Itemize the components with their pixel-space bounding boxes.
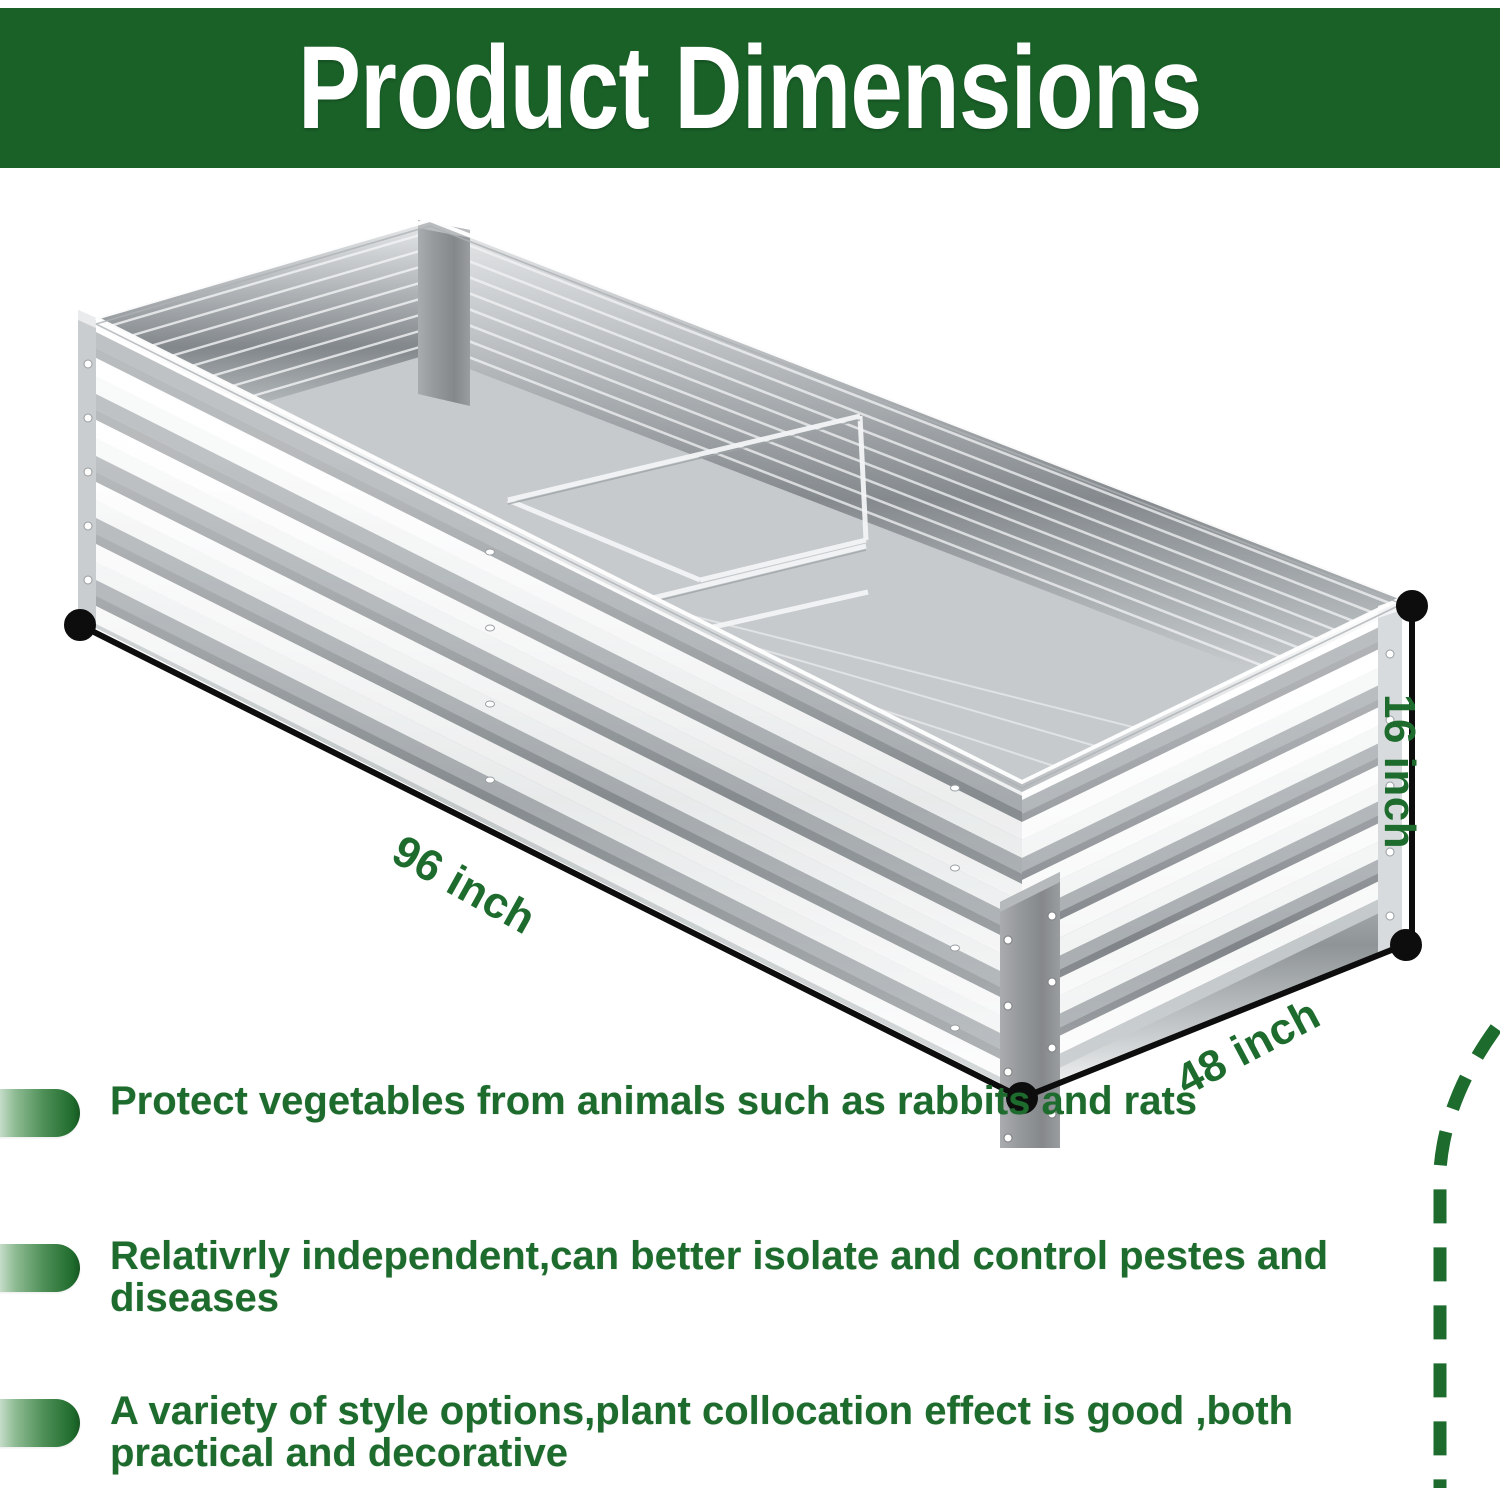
bullet-pill-icon [0, 1399, 80, 1447]
dimension-label-height: 16 inch [1374, 694, 1424, 849]
dimension-endpoint-dot [67, 612, 93, 638]
left-end-panel [78, 310, 96, 628]
interior-corner-post [418, 220, 470, 406]
page-title: Product Dimensions [298, 29, 1202, 147]
bullet-pill-icon [0, 1089, 80, 1137]
dimension-endpoint-dot [1393, 932, 1419, 958]
header-banner: Product Dimensions [0, 8, 1500, 168]
feature-item: Protect vegetables from animals such as … [0, 1080, 1460, 1137]
feature-item: A variety of style options,plant colloca… [0, 1390, 1460, 1475]
dimension-endpoint-dot [1399, 593, 1425, 619]
bullet-pill-icon [0, 1244, 80, 1292]
feature-text: Relativrly independent,can better isolat… [110, 1235, 1450, 1320]
product-illustration [0, 168, 1500, 1148]
raised-garden-bed-drawing [0, 168, 1500, 1148]
feature-text: Protect vegetables from animals such as … [110, 1080, 1197, 1122]
feature-item: Relativrly independent,can better isolat… [0, 1235, 1460, 1320]
feature-text: A variety of style options,plant colloca… [110, 1390, 1450, 1475]
feature-list: Protect vegetables from animals such as … [0, 1060, 1500, 1488]
